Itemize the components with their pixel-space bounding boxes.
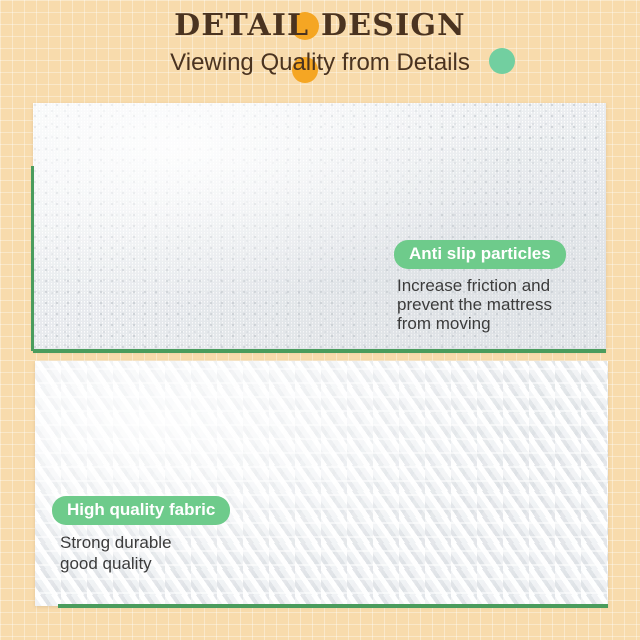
page-subtitle: Viewing Quality from Details bbox=[0, 47, 640, 79]
panel-left-accent-line-top bbox=[31, 166, 34, 351]
page-title: DETAIL DESIGN bbox=[0, 8, 640, 44]
callout-high-quality-fabric: High quality fabric Strong durable good … bbox=[52, 496, 230, 574]
panel-bottom-accent-line-bottom bbox=[58, 604, 608, 608]
header-banner: DETAIL DESIGN Viewing Quality from Detai… bbox=[0, 0, 640, 100]
description-anti-slip: Increase friction and prevent the mattre… bbox=[397, 276, 566, 333]
callout-anti-slip: Anti slip particles Increase friction an… bbox=[394, 240, 566, 333]
description-high-quality-fabric: Strong durable good quality bbox=[60, 532, 230, 574]
panel-bottom-accent-line-top bbox=[33, 349, 606, 353]
product-detail-page: DETAIL DESIGN Viewing Quality from Detai… bbox=[0, 0, 640, 640]
badge-high-quality-fabric: High quality fabric bbox=[52, 496, 230, 525]
badge-anti-slip-particles: Anti slip particles bbox=[394, 240, 566, 269]
